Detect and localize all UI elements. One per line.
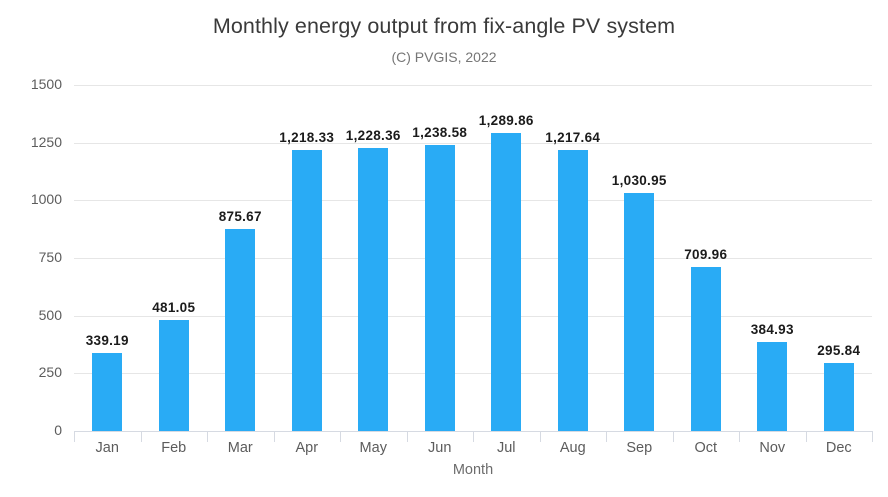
bar[interactable] — [558, 150, 588, 431]
plot-area: 339.19481.05875.671,218.331,228.361,238.… — [74, 85, 872, 431]
x-axis-tick — [74, 431, 75, 442]
bar-value-label: 481.05 — [152, 300, 195, 315]
x-axis-tick — [872, 431, 873, 442]
bar-group: 339.19 — [74, 85, 141, 431]
chart-subtitle: (C) PVGIS, 2022 — [0, 49, 888, 65]
x-axis-tick — [673, 431, 674, 442]
x-axis-tick — [806, 431, 807, 442]
bar[interactable] — [691, 267, 721, 431]
y-axis-tick-label: 0 — [0, 422, 62, 438]
x-axis-tick — [540, 431, 541, 442]
x-axis-tick — [141, 431, 142, 442]
x-axis-tick — [606, 431, 607, 442]
y-axis-tick-label: 1000 — [0, 191, 62, 207]
bar[interactable] — [425, 145, 455, 431]
x-axis-tick — [473, 431, 474, 442]
x-axis-title: Month — [74, 462, 872, 478]
bar-value-label: 709.96 — [684, 247, 727, 262]
bar-group: 1,238.58 — [407, 85, 474, 431]
bar[interactable] — [159, 320, 189, 431]
bar[interactable] — [824, 363, 854, 431]
y-axis-tick-label: 1500 — [0, 76, 62, 92]
bar-value-label: 1,217.64 — [545, 130, 600, 145]
bar-value-label: 1,218.33 — [279, 130, 334, 145]
bar-value-label: 1,289.86 — [479, 113, 534, 128]
bar-group: 1,218.33 — [274, 85, 341, 431]
bar-group: 1,289.86 — [473, 85, 540, 431]
bar[interactable] — [624, 193, 654, 431]
bar-value-label: 295.84 — [817, 343, 860, 358]
bar-group: 1,030.95 — [606, 85, 673, 431]
bar-group: 481.05 — [141, 85, 208, 431]
bar-group: 295.84 — [806, 85, 873, 431]
x-axis-tick — [274, 431, 275, 442]
bar[interactable] — [292, 150, 322, 431]
bar-value-label: 1,238.58 — [412, 125, 467, 140]
bar-chart: Monthly energy output from fix-angle PV … — [0, 0, 888, 497]
bar[interactable] — [491, 133, 521, 431]
y-axis-tick-label: 250 — [0, 364, 62, 380]
x-axis-tick — [340, 431, 341, 442]
bar-value-label: 339.19 — [86, 333, 129, 348]
x-axis-tick — [207, 431, 208, 442]
bar[interactable] — [757, 342, 787, 431]
bar-value-label: 384.93 — [751, 322, 794, 337]
y-axis-tick-label: 1250 — [0, 134, 62, 150]
bar-group: 1,228.36 — [340, 85, 407, 431]
x-axis-tick — [407, 431, 408, 442]
bar-value-label: 875.67 — [219, 209, 262, 224]
y-axis-tick-label: 750 — [0, 249, 62, 265]
bar[interactable] — [92, 353, 122, 431]
bar-value-label: 1,030.95 — [612, 173, 667, 188]
chart-title: Monthly energy output from fix-angle PV … — [0, 14, 888, 39]
bar[interactable] — [225, 229, 255, 431]
bar-group: 1,217.64 — [540, 85, 607, 431]
y-axis-tick-label: 500 — [0, 307, 62, 323]
bar-group: 384.93 — [739, 85, 806, 431]
bar-value-label: 1,228.36 — [346, 128, 401, 143]
bar[interactable] — [358, 148, 388, 431]
x-axis-tick — [739, 431, 740, 442]
bar-group: 875.67 — [207, 85, 274, 431]
x-axis-tick-label: Dec — [799, 440, 879, 456]
bar-group: 709.96 — [673, 85, 740, 431]
